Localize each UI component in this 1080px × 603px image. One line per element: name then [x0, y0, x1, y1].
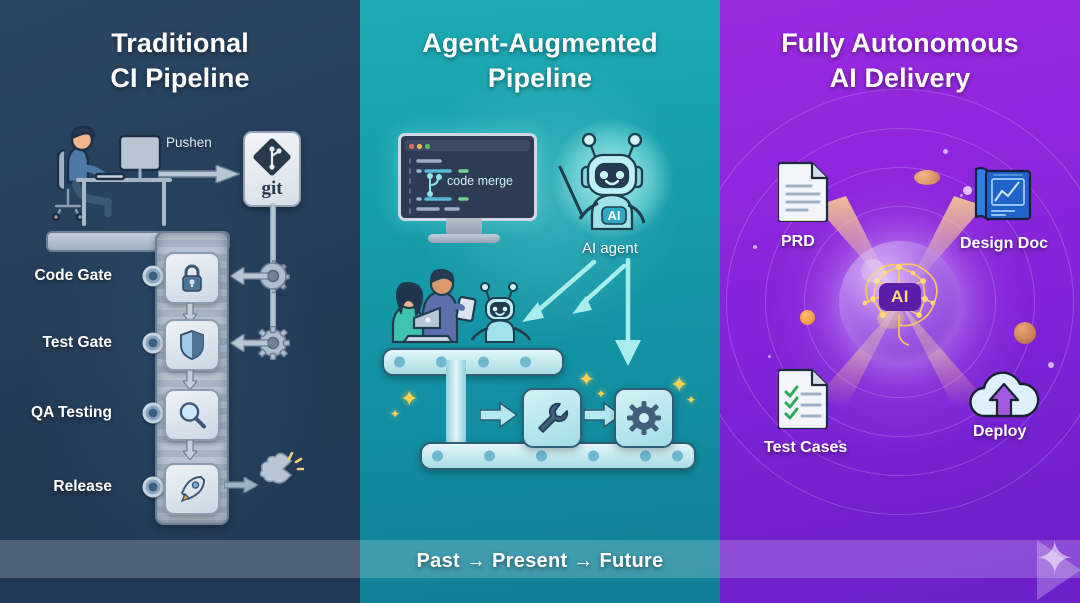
- sparkle-icon-1: ✦: [400, 388, 418, 410]
- stage-node-qa-testing: [143, 403, 164, 424]
- panel-agent-augmented: Agent-Augmented Pipeline: [360, 0, 720, 603]
- title-line-1: Agent-Augmented: [360, 26, 720, 61]
- panel-agent-title: Agent-Augmented Pipeline: [360, 26, 720, 96]
- checklist-icon-test-cases: [778, 367, 830, 429]
- monitor-screen: code merge: [398, 133, 537, 221]
- ai-agent-robot-illustration: AI: [558, 125, 666, 233]
- wrench-icon: [522, 388, 582, 448]
- sparkle-icon-4: ✦: [596, 388, 606, 400]
- release-burst-icon: [258, 452, 304, 496]
- sparkle-icon-3: ✦: [578, 370, 595, 390]
- human-team-illustration: [382, 262, 552, 350]
- panel-traditional-ci: Traditional CI Pipeline: [0, 0, 360, 603]
- rocket-icon: [164, 463, 220, 515]
- infographic-canvas: Traditional CI Pipeline: [0, 0, 1080, 603]
- timeline-label: Past → Present → Future: [0, 550, 1080, 573]
- conveyor-arrow-1: [480, 402, 518, 433]
- artifact-label-deploy: Deploy: [973, 423, 1026, 441]
- title-line-2: Pipeline: [360, 61, 720, 96]
- title-line-2: CI Pipeline: [0, 61, 360, 96]
- stage-label-code-gate: Code Gate: [34, 267, 112, 285]
- panel-traditional-title: Traditional CI Pipeline: [0, 26, 360, 96]
- developer-at-desk-illustration: [46, 118, 176, 238]
- panel-fully-autonomous: Fully Autonomous AI Delivery: [720, 0, 1080, 603]
- flow-arrow-2: [183, 370, 197, 390]
- sparkle-icon-6: ✦: [686, 394, 696, 406]
- feedback-arrow-code-gate: [230, 267, 268, 285]
- gear-icon-conveyor: [614, 388, 674, 448]
- flow-arrow-3: [183, 440, 197, 460]
- artifact-label-prd: PRD: [781, 233, 815, 251]
- code-merge-monitor: code merge: [398, 133, 531, 245]
- lock-icon: [164, 252, 220, 304]
- minimize-dot-icon: [417, 144, 422, 149]
- git-repository-sign: git: [243, 131, 301, 207]
- artifact-label-test-cases: Test Cases: [764, 439, 847, 457]
- sparkle-icon-2: ✦: [390, 408, 400, 420]
- stage-label-qa-testing: QA Testing: [31, 404, 112, 422]
- cloud-upload-icon-deploy: [968, 368, 1042, 420]
- stage-node-release: [143, 477, 164, 498]
- artifact-label-design-doc: Design Doc: [960, 235, 1048, 253]
- svg-text:AI: AI: [608, 208, 621, 223]
- close-dot-icon: [409, 144, 414, 149]
- feedback-arrow-test-gate: [230, 334, 268, 352]
- magnifier-icon: [164, 389, 220, 441]
- window-titlebar: [405, 140, 530, 151]
- stage-label-release: Release: [53, 478, 112, 496]
- title-line-1: Traditional: [0, 26, 360, 61]
- shield-icon: [164, 319, 220, 371]
- code-merge-label: code merge: [447, 174, 513, 188]
- stage-node-test-gate: [143, 333, 164, 354]
- release-arrow-icon: [224, 477, 258, 493]
- push-label: Pushen: [166, 135, 212, 150]
- monitor-base: [428, 234, 500, 243]
- maximize-dot-icon: [425, 144, 430, 149]
- agent-conveyor-system: ✦ ✦ ✦ ✦ ✦ ✦: [382, 340, 692, 480]
- ai-agent-label: AI agent: [582, 240, 638, 257]
- blueprint-icon-design-doc: [974, 165, 1032, 223]
- stage-label-test-gate: Test Gate: [43, 334, 113, 352]
- stage-node-code-gate: [143, 266, 164, 287]
- git-label: git: [245, 178, 299, 200]
- brain-orb-icon: AI: [839, 241, 961, 363]
- document-icon-prd: [778, 160, 830, 222]
- push-arrow-icon: [158, 165, 240, 183]
- ai-core-badge: AI: [879, 283, 921, 311]
- conveyor-belt-upper: [382, 348, 564, 376]
